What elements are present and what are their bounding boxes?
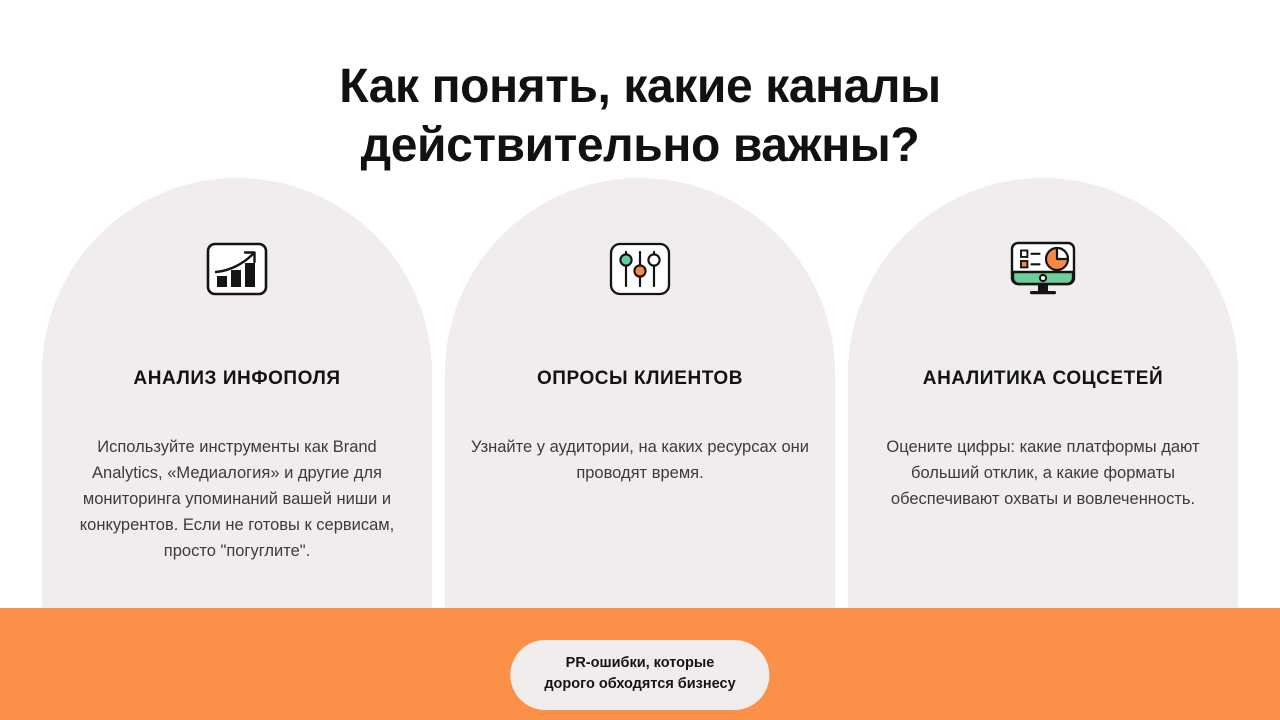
card-title: АНАЛИТИКА СОЦСЕТЕЙ <box>848 368 1238 390</box>
card-body: Узнайте у аудитории, на каких ресурсах о… <box>471 434 809 486</box>
page-title: Как понять, какие каналы действительно в… <box>0 58 1280 175</box>
bottom-banner: PR-ошибки, которые дорого обходятся бизн… <box>0 608 1280 720</box>
card-body: Используйте инструменты как Brand Analyt… <box>68 434 406 564</box>
sliders-icon <box>445 236 835 302</box>
card-analiz-infopolya[interactable]: АНАЛИЗ ИНФОПОЛЯ Используйте инструменты … <box>42 178 432 620</box>
bar-chart-growth-icon <box>42 236 432 302</box>
slide-root: Как понять, какие каналы действительно в… <box>0 0 1280 720</box>
cards-row: АНАЛИЗ ИНФОПОЛЯ Используйте инструменты … <box>42 178 1238 620</box>
monitor-analytics-icon <box>848 236 1238 302</box>
card-title: АНАЛИЗ ИНФОПОЛЯ <box>42 368 432 390</box>
card-body: Оцените цифры: какие платформы дают боль… <box>874 434 1212 512</box>
card-oprosy-klientov[interactable]: ОПРОСЫ КЛИЕНТОВ Узнайте у аудитории, на … <box>445 178 835 620</box>
banner-pill-label[interactable]: PR-ошибки, которые дорого обходятся бизн… <box>510 640 769 710</box>
card-title: ОПРОСЫ КЛИЕНТОВ <box>445 368 835 390</box>
card-analitika-socsetey[interactable]: АНАЛИТИКА СОЦСЕТЕЙ Оцените цифры: какие … <box>848 178 1238 620</box>
